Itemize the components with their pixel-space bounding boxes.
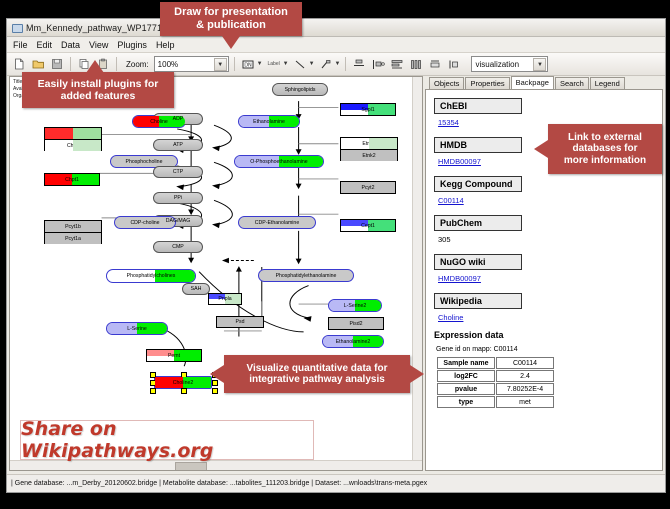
node-phosphatidylcholines[interactable]: Phosphatidylcholines [106, 269, 196, 283]
visualization-combobox[interactable]: visualization ▼ [471, 56, 548, 72]
node-l-serine[interactable]: L-Serine [106, 322, 168, 335]
gene-etnk2[interactable]: Etnk2 [341, 150, 397, 161]
gene-id-line: Gene id on mapp: C00114 [436, 346, 654, 353]
gene-chpt1[interactable]: Chpt1 [44, 173, 100, 186]
table-row: pvalue 7.80252E-4 [437, 383, 554, 395]
group-tool[interactable] [427, 56, 443, 72]
chevron-down-icon[interactable]: ▼ [283, 61, 289, 67]
save-icon[interactable] [49, 56, 65, 72]
node-atp[interactable]: ATP [153, 139, 203, 151]
distribute-tool[interactable] [370, 56, 386, 72]
gene-pcyt1a[interactable]: Pcyt1a [45, 233, 101, 244]
callout-visualize-arrow-left-icon [210, 365, 224, 383]
callout-visualize-arrow-right-icon [410, 365, 424, 383]
gene-psd[interactable]: Psd [216, 316, 264, 328]
datanode-tool[interactable]: DN ▼ [240, 56, 263, 72]
menu-item-data[interactable]: Data [61, 40, 80, 50]
node-choline-selected[interactable]: Choline2 [154, 376, 212, 389]
gene-pnpla[interactable]: Pnpla [208, 293, 242, 305]
callout-install-plugins: Easily install plugins for added feature… [22, 72, 174, 108]
cell-value-log2fc: 2.4 [496, 370, 554, 382]
resize-handle-se[interactable] [212, 388, 218, 394]
db-header-wikipedia: Wikipedia [434, 293, 522, 309]
table-row: Sample name C00114 [437, 357, 554, 369]
node-ctp[interactable]: CTP [153, 166, 203, 178]
gene-stack-pcyt1[interactable]: Pcyt1b Pcyt1a [44, 220, 102, 244]
chevron-down-icon[interactable]: ▼ [335, 61, 341, 67]
db-header-pubchem: PubChem [434, 215, 522, 231]
callout-link-arrow-icon [534, 140, 548, 158]
anchor-icon[interactable] [318, 56, 334, 72]
align-tool[interactable] [351, 56, 367, 72]
node-sah[interactable]: SAH [182, 283, 210, 295]
gene-etnk1[interactable]: Etnk1 [341, 138, 397, 150]
callout-draw-for-publication: Draw for presentation & publication [160, 2, 302, 36]
share-text: Share on Wikipathways.org [21, 418, 313, 462]
node-phosphatidylethanolamine[interactable]: Phosphatidylethanolamine [258, 269, 354, 282]
toolbar-separator [234, 57, 235, 71]
side-panel-tabs: Objects Properties Backpage Search Legen… [425, 76, 663, 89]
cell-value-pvalue: 7.80252E-4 [496, 383, 554, 395]
gene-pisd2[interactable]: Pisd2 [328, 317, 384, 330]
node-cdp-ethanolamine[interactable]: CDP-Ethanolamine [238, 216, 316, 229]
cell-value-type: met [496, 396, 554, 408]
zoom-combobox[interactable]: 100% ▼ [154, 56, 229, 72]
node-ppi[interactable]: PPi [153, 192, 203, 204]
gene-chka[interactable]: Chka [45, 140, 101, 151]
menu-bar: File Edit Data View Plugins Help [7, 37, 665, 53]
chevron-down-icon[interactable]: ▼ [214, 58, 227, 71]
db-link-wikipedia[interactable]: Choline [438, 313, 654, 322]
zoom-label: Zoom: [126, 60, 149, 69]
gene-pemt[interactable]: Pemt [146, 349, 202, 362]
cell-key-sample-name: Sample name [437, 357, 495, 369]
db-header-nugo: NuGO wiki [434, 254, 522, 270]
cell-value-sample-name: C00114 [496, 357, 554, 369]
stack-tool[interactable] [389, 56, 405, 72]
db-header-chebi: ChEBI [434, 98, 522, 114]
gene-pcyt1b[interactable]: Pcyt1b [45, 221, 101, 233]
callout-draw-arrow-icon [222, 36, 240, 49]
canvas-scrollbar-vertical[interactable] [412, 77, 422, 461]
callout-visualize-data: Visualize quantitative data for integrat… [224, 355, 410, 393]
status-bar-text: | Gene database: ...m_Derby_20120602.bri… [11, 480, 427, 487]
toolbar-separator [345, 57, 346, 71]
menu-item-help[interactable]: Help [156, 40, 175, 50]
cell-key-pvalue: pvalue [437, 383, 495, 395]
resize-handle-sw[interactable] [150, 388, 156, 394]
menu-item-edit[interactable]: Edit [37, 40, 53, 50]
cell-key-log2fc: log2FC [437, 370, 495, 382]
node-ethanolamine-2[interactable]: Ethanolamine2 [322, 335, 384, 348]
expression-data-heading: Expression data [434, 330, 654, 340]
node-ethanolamine[interactable]: Ethanolamine [238, 115, 300, 128]
status-bar: | Gene database: ...m_Derby_20120602.bri… [7, 474, 665, 492]
label-icon[interactable]: Label [266, 56, 282, 72]
callout-share-wikipathways: Share on Wikipathways.org [20, 420, 314, 460]
menu-item-plugins[interactable]: Plugins [117, 40, 147, 50]
menu-item-view[interactable]: View [89, 40, 108, 50]
line-icon[interactable] [292, 56, 308, 72]
db-header-kegg: Kegg Compound [434, 176, 522, 192]
chevron-down-icon[interactable]: ▼ [257, 61, 263, 67]
datanode-icon[interactable]: DN [240, 56, 256, 72]
cell-key-type: type [437, 396, 495, 408]
menu-item-file[interactable]: File [13, 40, 28, 50]
toolbar-separator [116, 57, 117, 71]
pathway-canvas[interactable]: Title: Availa Organ [9, 76, 423, 471]
tab-backpage[interactable]: Backpage [511, 76, 554, 90]
tab-legend[interactable]: Legend [590, 77, 625, 90]
table-row: type met [437, 396, 554, 408]
line-tool[interactable]: ▼ [292, 56, 315, 72]
screen: Mm_Kennedy_pathway_WP1771_45176.gpml Fil… [0, 0, 670, 509]
new-file-icon[interactable] [11, 56, 27, 72]
open-folder-icon[interactable] [30, 56, 46, 72]
chevron-down-icon[interactable]: ▼ [533, 58, 546, 71]
layer-tool[interactable] [446, 56, 462, 72]
expression-table: Sample name C00114 log2FC 2.4 pvalue 7.8… [436, 356, 555, 409]
db-link-kegg[interactable]: C00114 [438, 196, 654, 205]
selected-node-choline[interactable]: Choline2 [150, 372, 216, 392]
node-l-serine-2[interactable]: L-Serine2 [328, 299, 382, 312]
svg-text:DN: DN [244, 62, 252, 68]
callout-plugins-arrow-icon [86, 60, 104, 73]
order-tool[interactable] [408, 56, 424, 72]
db-value-pubchem: 305 [438, 235, 654, 244]
scrollbar-thumb[interactable] [175, 462, 207, 471]
table-row: log2FC 2.4 [437, 370, 554, 382]
zoom-value: 100% [158, 60, 178, 69]
db-header-hmdb: HMDB [434, 137, 522, 153]
app-window-icon [11, 22, 22, 33]
gene-pcyt2[interactable]: Pcyt2 [340, 181, 396, 194]
tab-search[interactable]: Search [555, 77, 589, 90]
callout-external-databases: Link to external databases for more info… [548, 124, 662, 174]
db-link-nugo[interactable]: HMDB00097 [438, 274, 654, 283]
gene-stack-etnk[interactable]: Etnk1 Etnk2 [340, 137, 398, 161]
chevron-down-icon[interactable]: ▼ [309, 61, 315, 67]
pathway-drawing[interactable]: Title: Availa Organ [10, 77, 422, 470]
resize-handle-s[interactable] [181, 388, 187, 394]
gene-cept1[interactable]: Cept1 [340, 219, 396, 232]
tab-properties[interactable]: Properties [465, 77, 509, 90]
node-sphingolipids[interactable]: Sphingolipids [272, 83, 328, 96]
anchor-tool[interactable]: ▼ [318, 56, 341, 72]
node-cmp[interactable]: CMP [153, 241, 203, 253]
gene-chkb[interactable]: Chkb [45, 128, 101, 140]
gene-stack-chk[interactable]: Chkb Chka [44, 127, 102, 151]
visualization-value: visualization [475, 60, 519, 69]
label-tool[interactable]: Label▼ [266, 56, 289, 72]
node-o-phosphoethanolamine[interactable]: O-Phosphoethanolamine [234, 155, 324, 168]
gene-sgpl1[interactable]: Sgpl1 [340, 103, 396, 116]
toolbar-separator [70, 57, 71, 71]
title-bar: Mm_Kennedy_pathway_WP1771_45176.gpml [7, 19, 665, 37]
tab-objects[interactable]: Objects [429, 77, 464, 90]
